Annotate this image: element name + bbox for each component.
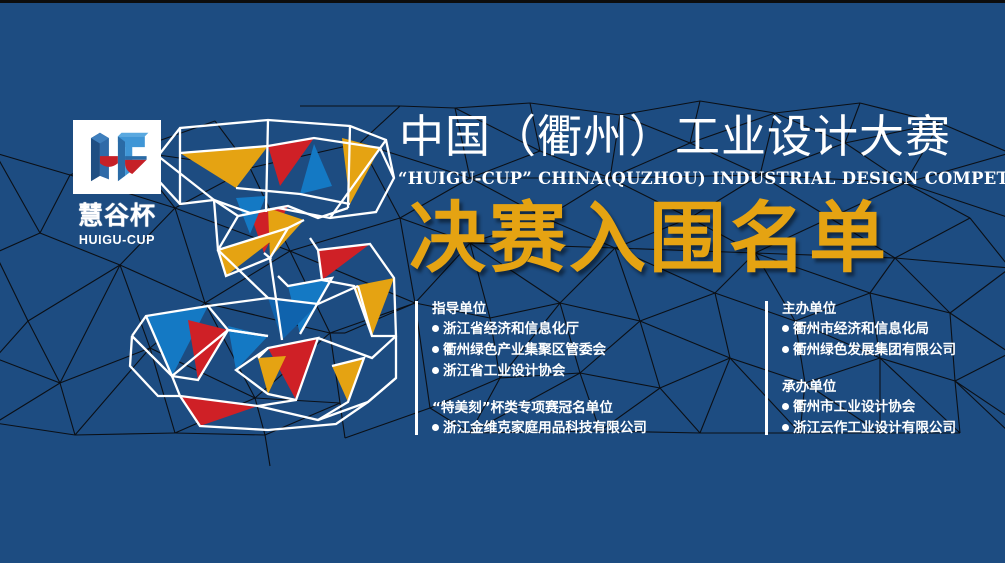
credit-group-guidance: 指导单位 浙江省经济和信息化厅 衢州绿色产业集聚区管委会 浙江省工业设计协会 — [432, 299, 647, 382]
credit-group-host: 主办单位 衢州市经济和信息化局 衢州绿色发展集团有限公司 — [782, 299, 956, 361]
poster-canvas: 慧谷杯 HUIGU-CUP 中国（衢州）工业设计大赛 “HUIGU-CUP” C… — [0, 0, 1005, 563]
credit-item: 浙江省工业设计协会 — [432, 361, 647, 382]
credit-item: 衢州绿色发展集团有限公司 — [782, 340, 956, 361]
bullet-icon — [432, 346, 439, 353]
credits-column-right: 主办单位 衢州市经济和信息化局 衢州绿色发展集团有限公司 承办单位 衢州市工业设… — [765, 299, 956, 439]
credit-item-label: 衢州市经济和信息化局 — [793, 321, 929, 337]
bullet-icon — [432, 424, 439, 431]
bullet-icon — [782, 403, 789, 410]
credit-group-title: 指导单位 — [432, 299, 647, 319]
credit-item: 浙江金维克家庭用品科技有限公司 — [432, 418, 647, 439]
bullet-icon — [782, 424, 789, 431]
credit-item: 浙江云作工业设计有限公司 — [782, 418, 956, 439]
column-divider-left — [415, 301, 418, 435]
huigu-cup-hg-monogram-icon — [73, 120, 161, 194]
credit-item-label: 衢州绿色发展集团有限公司 — [793, 342, 956, 358]
credit-item: 浙江省经济和信息化厅 — [432, 319, 647, 340]
credits-column-left: 指导单位 浙江省经济和信息化厅 衢州绿色产业集聚区管委会 浙江省工业设计协会 “… — [415, 299, 647, 439]
event-title-english: “HUIGU-CUP” CHINA(QUZHOU) INDUSTRIAL DES… — [398, 171, 1005, 187]
credit-group-title: 主办单位 — [782, 299, 956, 319]
credit-group-title-sponsor: “特美刻”杯类专项赛冠名单位 浙江金维克家庭用品科技有限公司 — [432, 398, 647, 439]
huigu-cup-logo: 慧谷杯 HUIGU-CUP — [69, 120, 165, 247]
credit-item: 衢州市工业设计协会 — [782, 397, 956, 418]
credit-item-label: 浙江省经济和信息化厅 — [443, 321, 579, 337]
credit-item-label: 浙江云作工业设计有限公司 — [793, 420, 956, 436]
credit-item-label: 衢州绿色产业集聚区管委会 — [443, 342, 606, 358]
bullet-icon — [782, 325, 789, 332]
credit-item-label: 浙江金维克家庭用品科技有限公司 — [443, 420, 647, 436]
event-title-chinese: 中国（衢州）工业设计大赛 — [399, 114, 951, 159]
credit-group-title: “特美刻”杯类专项赛冠名单位 — [432, 398, 647, 418]
credit-group-title: 承办单位 — [782, 377, 956, 397]
page-title: 决赛入围名单 — [409, 201, 889, 278]
logo-chinese-name: 慧谷杯 — [69, 203, 165, 228]
bullet-icon — [782, 346, 789, 353]
credit-group-organizer: 承办单位 衢州市工业设计协会 浙江云作工业设计有限公司 — [782, 377, 956, 439]
credit-item: 衢州市经济和信息化局 — [782, 319, 956, 340]
credit-item: 衢州绿色产业集聚区管委会 — [432, 340, 647, 361]
bullet-icon — [432, 367, 439, 374]
credits-area: 指导单位 浙江省经济和信息化厅 衢州绿色产业集聚区管委会 浙江省工业设计协会 “… — [0, 299, 1005, 439]
credit-item-label: 衢州市工业设计协会 — [793, 399, 915, 415]
bullet-icon — [432, 325, 439, 332]
logo-english-name: HUIGU-CUP — [69, 234, 165, 247]
credit-item-label: 浙江省工业设计协会 — [443, 363, 565, 379]
column-divider-right — [765, 301, 768, 435]
